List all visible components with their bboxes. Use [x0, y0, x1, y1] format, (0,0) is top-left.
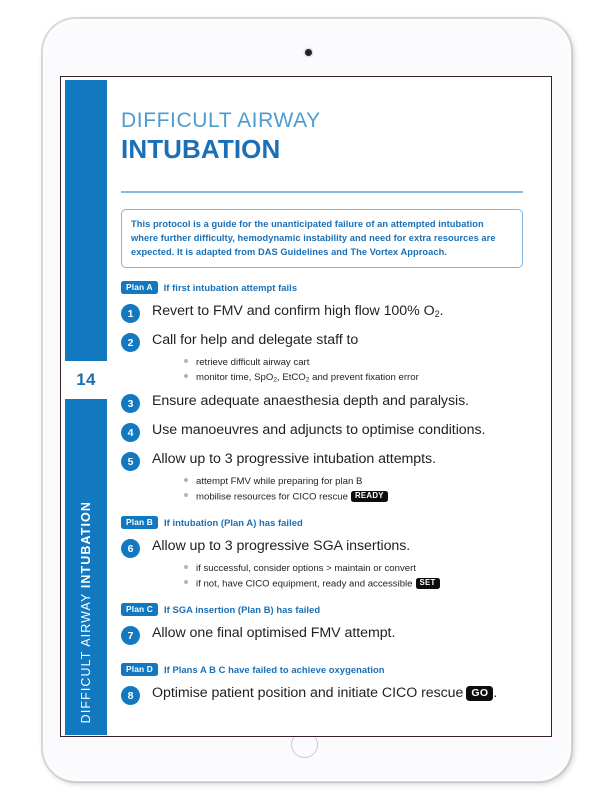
- sub-bullet-text: if not, have CICO equipment, ready and a…: [196, 578, 440, 591]
- bullet-dot-icon: [184, 493, 188, 497]
- sidebar-bar-top: [65, 80, 107, 361]
- sidebar-vertical-title-regular: DIFFICULT AIRWAY: [79, 588, 93, 723]
- plan-badge: Plan D: [121, 663, 158, 676]
- plan-badge: Plan B: [121, 516, 158, 529]
- sub-bullet-text: monitor time, SpO2, EtCO2 and prevent fi…: [196, 372, 419, 385]
- bullet-dot-icon: [184, 359, 188, 363]
- plan-header-plan-c: Plan CIf SGA insertion (Plan B) has fail…: [121, 603, 551, 616]
- section-spacer: [121, 645, 551, 650]
- plan-description: If Plans A B C have failed to achieve ox…: [164, 664, 385, 675]
- plan-header-plan-a: Plan AIf first intubation attempt fails: [121, 281, 551, 294]
- protocol-page: 14 DIFFICULT AIRWAY INTUBATION DIFFICULT…: [60, 76, 552, 737]
- step-number-badge: 6: [121, 539, 140, 558]
- step-text: Allow up to 3 progressive SGA insertions…: [152, 538, 410, 555]
- plan-badge: Plan A: [121, 281, 158, 294]
- tablet-device: 14 DIFFICULT AIRWAY INTUBATION DIFFICULT…: [42, 18, 572, 782]
- plan-badge: Plan C: [121, 603, 158, 616]
- sub-bullet-text: retrieve difficult airway cart: [196, 357, 309, 369]
- step-text: Use manoeuvres and adjuncts to optimise …: [152, 422, 485, 439]
- protocol-step: 7Allow one final optimised FMV attempt.: [121, 625, 551, 645]
- sub-bullet-item: attempt FMV while preparing for plan B: [184, 476, 551, 488]
- bullet-dot-icon: [184, 374, 188, 378]
- plans-container: Plan AIf first intubation attempt fails1…: [121, 281, 551, 705]
- protocol-step: 5Allow up to 3 progressive intubation at…: [121, 451, 551, 471]
- page-title-subtitle: DIFFICULT AIRWAY: [121, 109, 551, 133]
- step-number-badge: 2: [121, 333, 140, 352]
- protocol-step: 3Ensure adequate anaesthesia depth and p…: [121, 393, 551, 413]
- sub-bullet-item: monitor time, SpO2, EtCO2 and prevent fi…: [184, 372, 551, 385]
- step-text: Revert to FMV and confirm high flow 100%…: [152, 303, 443, 320]
- page-number: 14: [65, 361, 107, 399]
- intro-text: This protocol is a guide for the unantic…: [131, 217, 513, 259]
- sub-bullet-text: mobilise resources for CICO rescueREADY: [196, 491, 388, 504]
- sub-bullet-text: attempt FMV while preparing for plan B: [196, 476, 362, 488]
- protocol-step: 4Use manoeuvres and adjuncts to optimise…: [121, 422, 551, 442]
- sidebar-rail: 14 DIFFICULT AIRWAY INTUBATION: [65, 80, 107, 735]
- sub-bullet-item: if successful, consider options > mainta…: [184, 563, 551, 575]
- plan-header-plan-d: Plan DIf Plans A B C have failed to achi…: [121, 663, 551, 676]
- sub-bullet-text: if successful, consider options > mainta…: [196, 563, 416, 575]
- title-divider: [121, 191, 523, 193]
- step-number-badge: 7: [121, 626, 140, 645]
- step-sub-bullets: retrieve difficult airway cartmonitor ti…: [184, 357, 551, 384]
- sub-bullet-item: if not, have CICO equipment, ready and a…: [184, 578, 551, 591]
- step-sub-bullets: if successful, consider options > mainta…: [184, 563, 551, 590]
- sub-bullet-item: retrieve difficult airway cart: [184, 357, 551, 369]
- bullet-dot-icon: [184, 580, 188, 584]
- step-number-badge: 1: [121, 304, 140, 323]
- plan-description: If SGA insertion (Plan B) has failed: [164, 604, 320, 615]
- bullet-dot-icon: [184, 565, 188, 569]
- plan-description: If intubation (Plan A) has failed: [164, 517, 303, 528]
- step-text: Allow one final optimised FMV attempt.: [152, 625, 395, 642]
- action-tag: SET: [416, 578, 440, 589]
- step-number-badge: 3: [121, 394, 140, 413]
- protocol-step: 6Allow up to 3 progressive SGA insertion…: [121, 538, 551, 558]
- step-number-badge: 8: [121, 686, 140, 705]
- action-tag: READY: [351, 491, 388, 502]
- step-text: Optimise patient position and initiate C…: [152, 685, 497, 702]
- step-sub-bullets: attempt FMV while preparing for plan Bmo…: [184, 476, 551, 503]
- plan-header-plan-b: Plan BIf intubation (Plan A) has failed: [121, 516, 551, 529]
- sub-bullet-item: mobilise resources for CICO rescueREADY: [184, 491, 551, 504]
- protocol-step: 1Revert to FMV and confirm high flow 100…: [121, 303, 551, 323]
- sidebar-vertical-title-bold: INTUBATION: [79, 501, 93, 588]
- protocol-step: 2Call for help and delegate staff to: [121, 332, 551, 352]
- plan-description: If first intubation attempt fails: [164, 282, 297, 293]
- sidebar-vertical-title: DIFFICULT AIRWAY INTUBATION: [65, 399, 107, 735]
- step-number-badge: 5: [121, 452, 140, 471]
- intro-box: This protocol is a guide for the unantic…: [121, 209, 523, 268]
- camera-icon: [305, 49, 312, 56]
- step-text: Call for help and delegate staff to: [152, 332, 358, 349]
- protocol-step: 8Optimise patient position and initiate …: [121, 685, 551, 705]
- step-text: Ensure adequate anaesthesia depth and pa…: [152, 393, 469, 410]
- action-tag: GO: [466, 686, 493, 701]
- page-title: INTUBATION: [121, 135, 551, 165]
- step-number-badge: 4: [121, 423, 140, 442]
- page-content: DIFFICULT AIRWAY INTUBATION This protoco…: [121, 77, 551, 737]
- bullet-dot-icon: [184, 478, 188, 482]
- step-text: Allow up to 3 progressive intubation att…: [152, 451, 436, 468]
